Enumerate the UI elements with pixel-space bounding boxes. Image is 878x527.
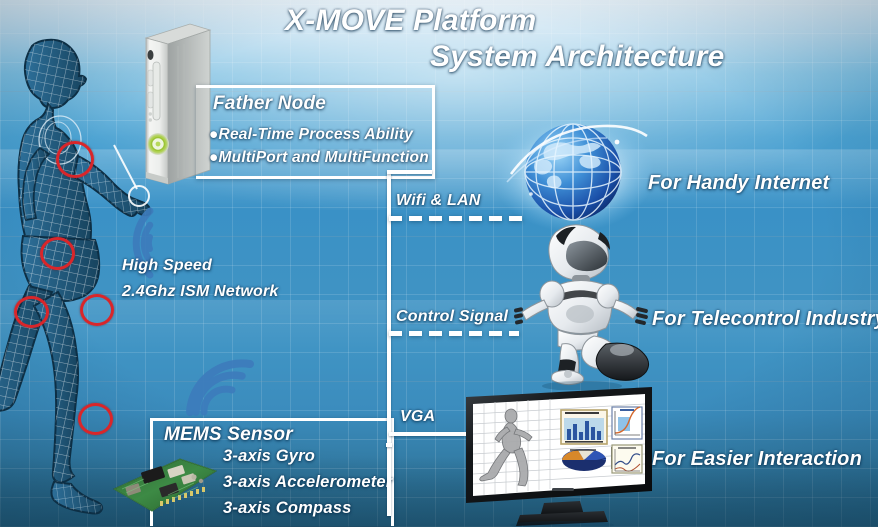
mems-sensor-item-2: 3-axis Compass [223, 499, 351, 518]
shin-marker [78, 403, 113, 435]
father-node-bullet-0: ●Real-Time Process Ability [209, 126, 413, 144]
sensor-board-icon [108, 455, 220, 517]
link-label-wifi-lan: Wifi & LAN [396, 192, 481, 210]
link-line-control-signal [389, 331, 519, 336]
mems-sensor-heading: MEMS Sensor [164, 424, 293, 446]
application-label-handy-internet: For Handy Internet [648, 172, 829, 195]
father-node-stub [387, 170, 432, 174]
globe-icon [487, 112, 653, 234]
architecture-diagram: X-MOVE Platform System Architecture [0, 0, 878, 527]
network-label-line-1: High Speed [122, 257, 212, 275]
shoulder-marker [56, 141, 94, 178]
wifi-signal-icon [186, 358, 254, 420]
network-label-line-2: 2.4Ghz ISM Network [122, 283, 279, 301]
link-label-vga: VGA [400, 408, 435, 426]
trunk-line [387, 172, 391, 516]
application-label-telecontrol-industry: For Telecontrol Industry [652, 308, 878, 331]
mems-sensor-item-1: 3-axis Accelerometer [223, 473, 392, 492]
link-label-control-signal: Control Signal [396, 308, 508, 326]
title-line-1: X-MOVE Platform [285, 4, 536, 38]
right-thigh-marker [80, 294, 114, 326]
mems-stub [386, 443, 392, 447]
hip-marker [40, 237, 75, 270]
mems-sensor-item-0: 3-axis Gyro [223, 447, 315, 466]
application-label-easier-interaction: For Easier Interaction [652, 448, 862, 471]
title-line-2: System Architecture [430, 40, 724, 74]
father-node-heading: Father Node [213, 93, 326, 115]
left-thigh-marker [14, 296, 49, 328]
robot-icon [512, 218, 672, 390]
monitor-icon [462, 385, 658, 527]
father-node-bullet-1: ●MultiPort and MultiFunction [209, 149, 429, 167]
